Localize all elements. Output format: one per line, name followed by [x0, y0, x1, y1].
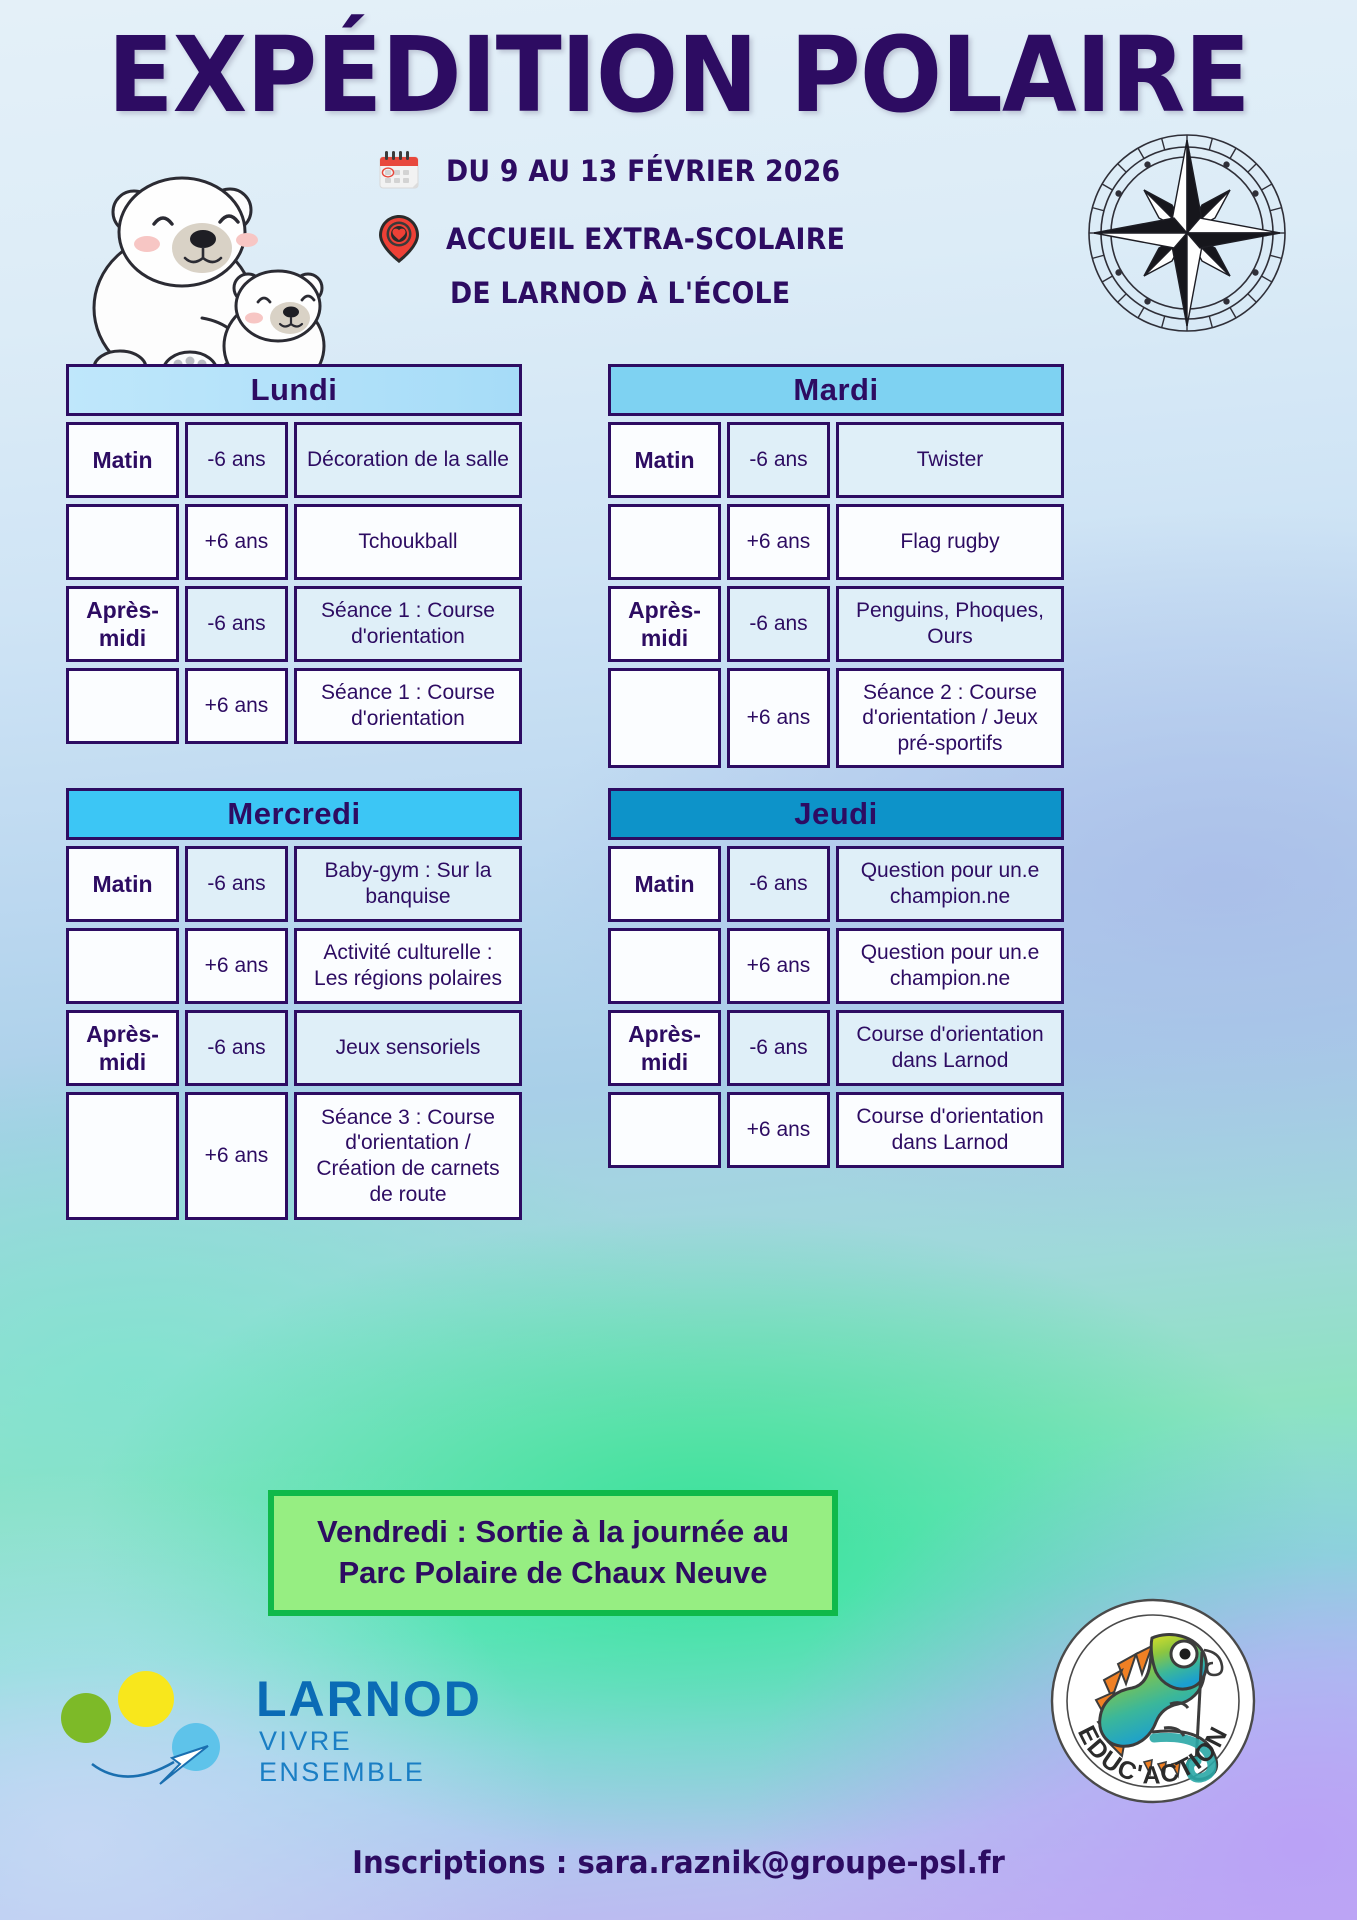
cell-time: [66, 504, 179, 580]
cell-age: -6 ans: [727, 1010, 830, 1086]
cell-age: -6 ans: [185, 586, 288, 662]
larnod-tagline: VIVRE ENSEMBLE: [259, 1726, 478, 1788]
table-row: +6 ans Séance 1 : Course d'orientation: [66, 668, 522, 744]
cell-age: -6 ans: [185, 1010, 288, 1086]
cell-activity: Tchoukball: [294, 504, 522, 580]
friday-banner: Vendredi : Sortie à la journée au Parc P…: [268, 1490, 838, 1616]
cell-activity: Penguins, Phoques, Ours: [836, 586, 1064, 662]
cell-time: Matin: [608, 846, 721, 922]
compass-rose-icon: [1082, 128, 1292, 338]
cell-age: -6 ans: [185, 422, 288, 498]
page-title: EXPÉDITION POLAIRE: [47, 14, 1309, 136]
table-row: Après-midi -6 ans Course d'orientation d…: [608, 1010, 1064, 1086]
table-row: +6 ans Flag rugby: [608, 504, 1064, 580]
event-date-text: DU 9 AU 13 FÉVRIER 2026: [446, 154, 840, 188]
cell-time: Après-midi: [66, 586, 179, 662]
table-row: Après-midi -6 ans Jeux sensoriels: [66, 1010, 522, 1086]
cell-age: -6 ans: [727, 422, 830, 498]
table-row: Matin -6 ans Question pour un.e champion…: [608, 846, 1064, 922]
cell-time: Après-midi: [608, 586, 721, 662]
cell-activity: Baby-gym : Sur la banquise: [294, 846, 522, 922]
cell-age: +6 ans: [185, 668, 288, 744]
table-row: +6 ans Tchoukball: [66, 504, 522, 580]
educaction-logo: EDUC'ACTION: [1044, 1592, 1262, 1810]
table-row: +6 ans Course d'orientation dans Larnod: [608, 1092, 1064, 1168]
cell-age: +6 ans: [185, 928, 288, 1004]
event-location-text-2: DE LARNOD À L'ÉCOLE: [450, 276, 857, 310]
cell-activity: Course d'orientation dans Larnod: [836, 1092, 1064, 1168]
friday-line-2: Parc Polaire de Chaux Neuve: [292, 1553, 814, 1594]
event-location-row: ACCUEIL EXTRA-SCOLAIRE: [372, 212, 892, 266]
cell-time: Matin: [608, 422, 721, 498]
cell-time: Après-midi: [608, 1010, 721, 1086]
event-info-block: DU 9 AU 13 FÉVRIER 2026 ACCUEIL EXTRA-SC…: [372, 144, 892, 310]
table-row: +6 ans Activité culturelle : Les régions…: [66, 928, 522, 1004]
day-table-lundi: Lundi Matin -6 ans Décoration de la sall…: [66, 364, 522, 750]
cell-time: [608, 668, 721, 768]
cell-age: +6 ans: [727, 504, 830, 580]
cell-age: -6 ans: [727, 846, 830, 922]
day-header-mercredi: Mercredi: [66, 788, 522, 840]
day-table-mardi: Mardi Matin -6 ans Twister +6 ans Flag r…: [608, 364, 1064, 774]
table-row: +6 ans Séance 3 : Course d'orientation /…: [66, 1092, 522, 1220]
cell-time: [66, 1092, 179, 1220]
cell-age: +6 ans: [185, 504, 288, 580]
calendar-icon: [372, 149, 426, 193]
cell-activity: Activité culturelle : Les régions polair…: [294, 928, 522, 1004]
inscriptions-text: Inscriptions : sara.raznik@groupe-psl.fr: [41, 1845, 1317, 1881]
cell-age: +6 ans: [727, 1092, 830, 1168]
cell-time: [608, 1092, 721, 1168]
event-date-row: DU 9 AU 13 FÉVRIER 2026: [372, 144, 892, 198]
cell-activity: Séance 3 : Course d'orientation / Créati…: [294, 1092, 522, 1220]
cell-time: [66, 668, 179, 744]
day-header-mardi: Mardi: [608, 364, 1064, 416]
cell-activity: Flag rugby: [836, 504, 1064, 580]
table-row: Après-midi -6 ans Penguins, Phoques, Our…: [608, 586, 1064, 662]
cell-time: [608, 928, 721, 1004]
cell-age: -6 ans: [185, 846, 288, 922]
table-row: Matin -6 ans Twister: [608, 422, 1064, 498]
cell-time: [66, 928, 179, 1004]
event-location-text: ACCUEIL EXTRA-SCOLAIRE: [446, 222, 845, 256]
day-table-mercredi: Mercredi Matin -6 ans Baby-gym : Sur la …: [66, 788, 522, 1226]
larnod-logo: LARNOD VIVRE ENSEMBLE: [48, 1648, 478, 1798]
table-row: Après-midi -6 ans Séance 1 : Course d'or…: [66, 586, 522, 662]
table-row: +6 ans Séance 2 : Course d'orientation /…: [608, 668, 1064, 768]
larnod-wordmark: LARNOD: [256, 1670, 482, 1728]
day-header-jeudi: Jeudi: [608, 788, 1064, 840]
day-table-jeudi: Jeudi Matin -6 ans Question pour un.e ch…: [608, 788, 1064, 1174]
cell-age: +6 ans: [727, 668, 830, 768]
cell-activity: Course d'orientation dans Larnod: [836, 1010, 1064, 1086]
poster-canvas: EXPÉDITION POLAIRE: [0, 0, 1357, 1920]
table-row: Matin -6 ans Décoration de la salle: [66, 422, 522, 498]
friday-line-1: Vendredi : Sortie à la journée au: [292, 1512, 814, 1553]
cell-time: Matin: [66, 422, 179, 498]
day-header-lundi: Lundi: [66, 364, 522, 416]
cell-activity: Décoration de la salle: [294, 422, 522, 498]
cell-activity: Question pour un.e champion.ne: [836, 846, 1064, 922]
polar-bear-illustration: [62, 140, 342, 400]
cell-time: [608, 504, 721, 580]
cell-activity: Jeux sensoriels: [294, 1010, 522, 1086]
table-row: Matin -6 ans Baby-gym : Sur la banquise: [66, 846, 522, 922]
table-row: +6 ans Question pour un.e champion.ne: [608, 928, 1064, 1004]
location-pin-icon: [372, 213, 426, 265]
cell-time: Après-midi: [66, 1010, 179, 1086]
cell-activity: Twister: [836, 422, 1064, 498]
cell-activity: Séance 1 : Course d'orientation: [294, 586, 522, 662]
cell-age: +6 ans: [727, 928, 830, 1004]
cell-time: Matin: [66, 846, 179, 922]
cell-activity: Séance 2 : Course d'orientation / Jeux p…: [836, 668, 1064, 768]
cell-activity: Question pour un.e champion.ne: [836, 928, 1064, 1004]
cell-age: +6 ans: [185, 1092, 288, 1220]
cell-age: -6 ans: [727, 586, 830, 662]
cell-activity: Séance 1 : Course d'orientation: [294, 668, 522, 744]
